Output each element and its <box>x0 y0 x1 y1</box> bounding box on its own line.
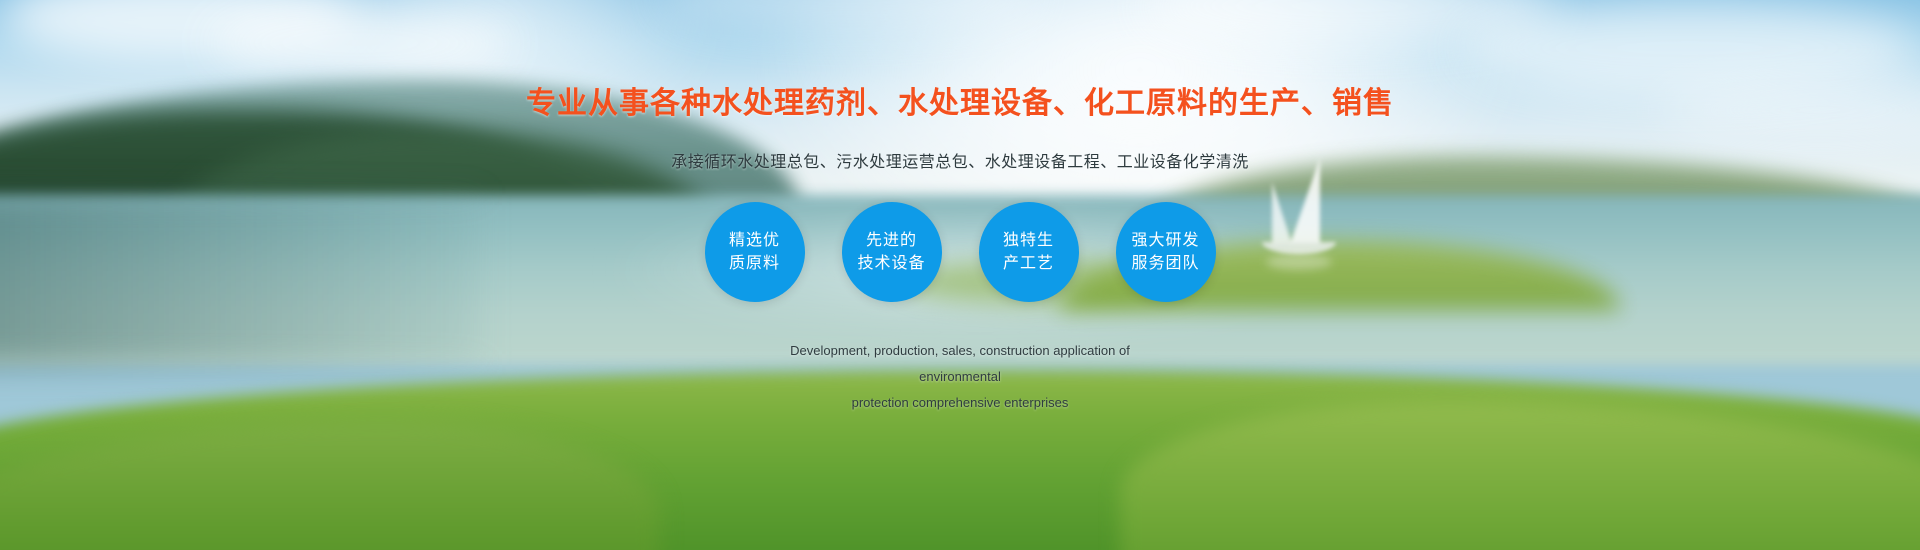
feature-circle-4-line2: 服务团队 <box>1131 252 1199 275</box>
banner-subtitle: 承接循环水处理总包、污水处理运营总包、水处理设备工程、工业设备化学清洗 <box>671 148 1249 172</box>
feature-circle-4-line1: 强大研发 <box>1131 229 1199 252</box>
banner-headline: 专业从事各种水处理药剂、水处理设备、化工原料的生产、销售 <box>526 78 1394 122</box>
feature-circle-3-line2: 产工艺 <box>1003 252 1054 275</box>
feature-circle-3-line1: 独特生 <box>1003 229 1054 252</box>
english-tagline: Development, production, sales, construc… <box>750 338 1170 416</box>
english-tagline-line2: protection comprehensive enterprises <box>750 390 1170 416</box>
feature-circle-2[interactable]: 先进的 技术设备 <box>842 202 942 302</box>
feature-circle-2-line1: 先进的 <box>866 229 917 252</box>
feature-circle-row: 精选优 质原料 先进的 技术设备 独特生 产工艺 强大研发 服务团队 <box>705 202 1216 302</box>
feature-circle-1-line2: 质原料 <box>729 252 780 275</box>
feature-circle-4[interactable]: 强大研发 服务团队 <box>1116 202 1216 302</box>
banner-content: 专业从事各种水处理药剂、水处理设备、化工原料的生产、销售 承接循环水处理总包、污… <box>0 0 1920 550</box>
feature-circle-3[interactable]: 独特生 产工艺 <box>979 202 1079 302</box>
feature-circle-1-line1: 精选优 <box>729 229 780 252</box>
feature-circle-2-line2: 技术设备 <box>857 252 925 275</box>
english-tagline-line1: Development, production, sales, construc… <box>750 338 1170 390</box>
feature-circle-1[interactable]: 精选优 质原料 <box>705 202 805 302</box>
hero-banner: 专业从事各种水处理药剂、水处理设备、化工原料的生产、销售 承接循环水处理总包、污… <box>0 0 1920 550</box>
